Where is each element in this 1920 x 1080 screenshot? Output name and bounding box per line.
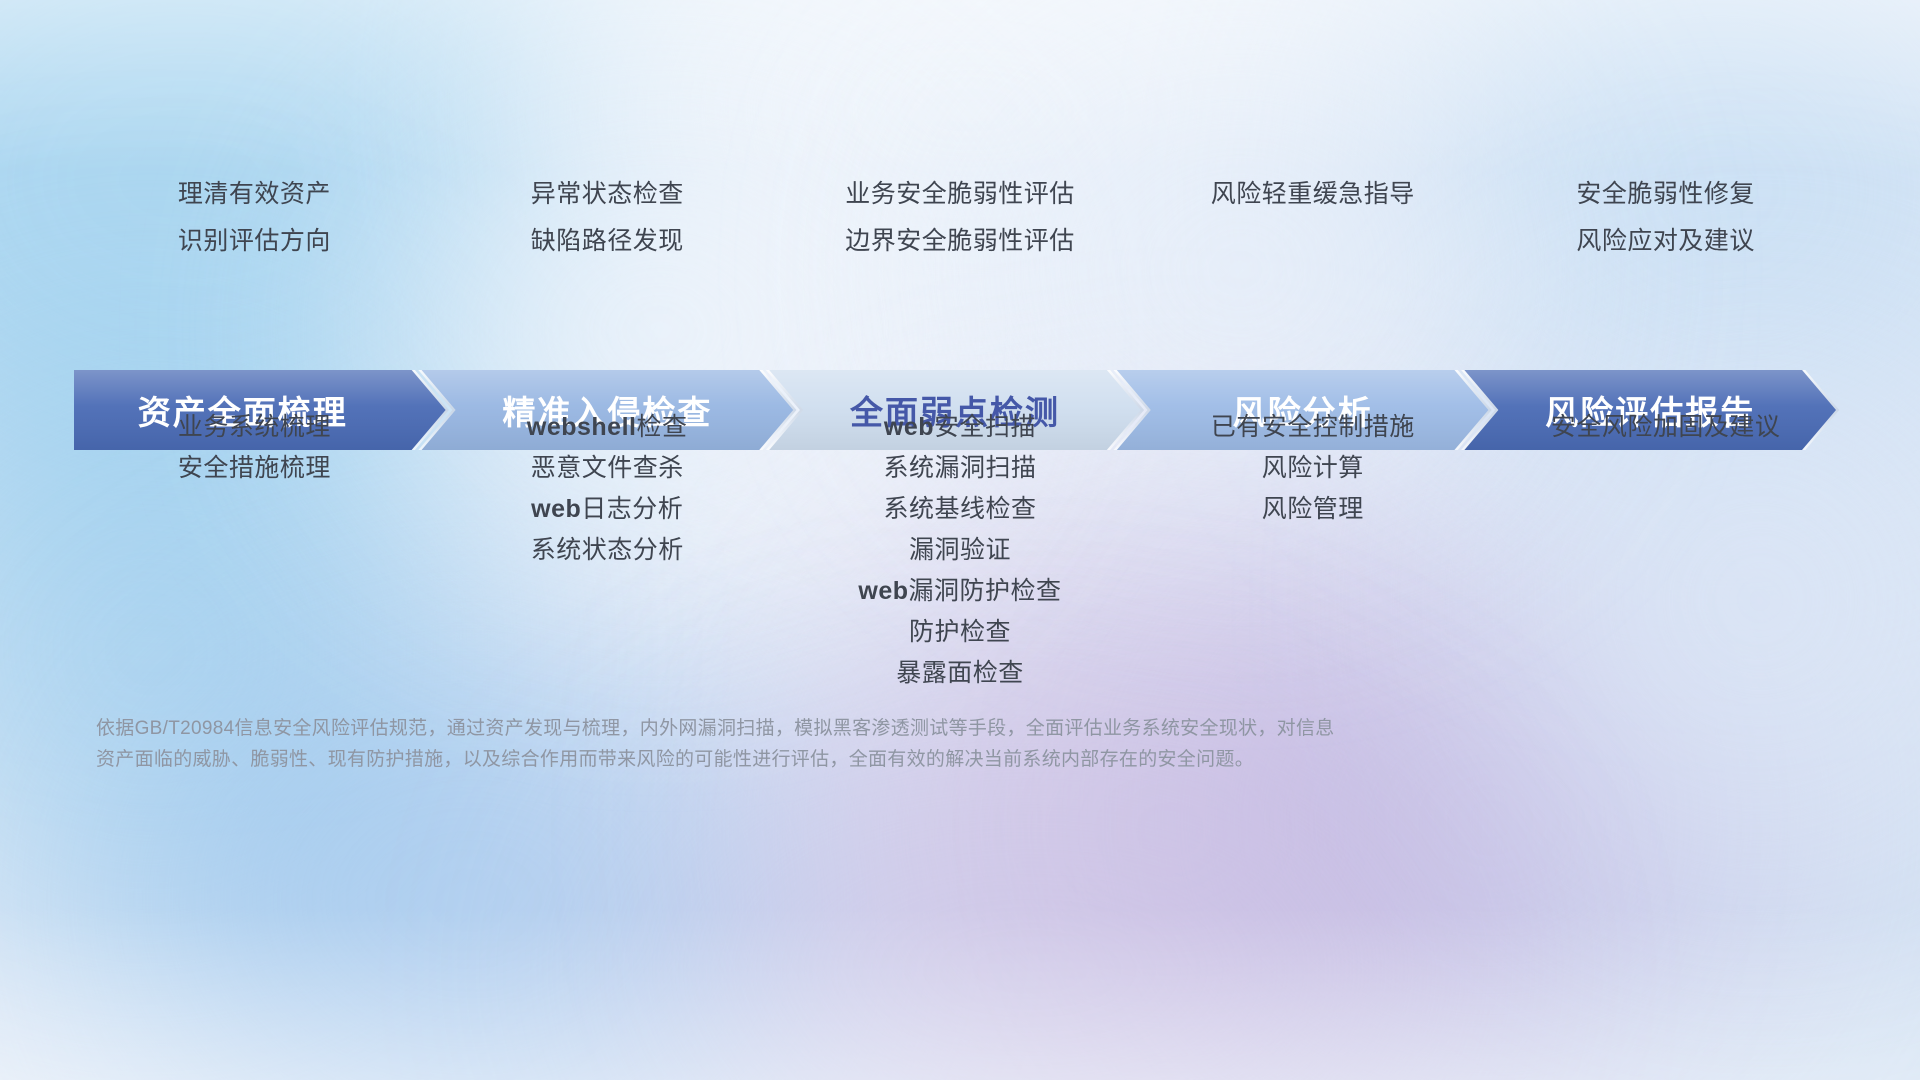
bottom-caption-line: web日志分析 [531, 497, 683, 522]
top-caption-col-weakness-detection: 业务安全脆弱性评估边界安全脆弱性评估 [784, 182, 1137, 276]
bottom-caption-col-risk-report: 安全风险加固及建议 [1489, 415, 1842, 702]
bottom-caption-line: 安全风险加固及建议 [1551, 415, 1781, 440]
bottom-caption-text: 检查 [636, 413, 687, 441]
bottom-caption-line: 已有安全控制措施 [1211, 415, 1415, 440]
top-caption-line: 识别评估方向 [178, 229, 331, 254]
top-caption-line: 边界安全脆弱性评估 [845, 229, 1075, 254]
top-caption-line: 理清有效资产 [178, 182, 331, 207]
bottom-caption-col-intrusion-check: webshell检查恶意文件查杀web日志分析系统状态分析 [431, 415, 784, 702]
process-diagram: 理清有效资产识别评估方向异常状态检查缺陷路径发现业务安全脆弱性评估边界安全脆弱性… [0, 0, 1920, 1080]
top-caption-col-asset-inventory: 理清有效资产识别评估方向 [78, 182, 431, 276]
bottom-caption-text: 安全扫描 [934, 413, 1036, 441]
top-caption-line: 业务安全脆弱性评估 [845, 182, 1075, 207]
footer-description: 依据GB/T20984信息安全风险评估规范，通过资产发现与梳理，内外网漏洞扫描，… [96, 713, 1586, 775]
bottom-caption-line: 系统基线检查 [883, 497, 1036, 522]
top-caption-col-intrusion-check: 异常状态检查缺陷路径发现 [431, 182, 784, 276]
top-caption-line: 异常状态检查 [531, 182, 684, 207]
bottom-caption-keyword: web [884, 413, 934, 441]
bottom-caption-col-asset-inventory: 业务系统梳理安全措施梳理 [78, 415, 431, 702]
top-caption-line: 风险轻重缓急指导 [1211, 182, 1415, 207]
bottom-caption-col-weakness-detection: web安全扫描系统漏洞扫描系统基线检查漏洞验证web漏洞防护检查防护检查暴露面检… [784, 415, 1137, 702]
bottom-caption-line: 安全措施梳理 [178, 456, 331, 481]
bottom-caption-row: 业务系统梳理安全措施梳理webshell检查恶意文件查杀web日志分析系统状态分… [78, 415, 1842, 702]
top-caption-col-risk-analysis: 风险轻重缓急指导 [1136, 182, 1489, 276]
bottom-caption-line: 防护检查 [909, 620, 1011, 645]
bottom-caption-line: 业务系统梳理 [178, 415, 331, 440]
top-caption-row: 理清有效资产识别评估方向异常状态检查缺陷路径发现业务安全脆弱性评估边界安全脆弱性… [78, 182, 1842, 276]
top-caption-line: 缺陷路径发现 [531, 229, 684, 254]
bottom-caption-line: web安全扫描 [884, 415, 1036, 440]
bottom-caption-keyword: web [858, 577, 908, 605]
bottom-caption-keyword: webshell [527, 413, 637, 441]
bottom-caption-line: 系统状态分析 [531, 538, 684, 563]
bottom-caption-line: 风险计算 [1262, 456, 1364, 481]
bottom-caption-line: 漏洞验证 [909, 538, 1011, 563]
footer-line-1: 依据GB/T20984信息安全风险评估规范，通过资产发现与梳理，内外网漏洞扫描，… [96, 713, 1586, 744]
bottom-caption-text: 漏洞防护检查 [909, 577, 1062, 605]
bottom-caption-line: 风险管理 [1262, 497, 1364, 522]
bottom-caption-keyword: web [531, 495, 581, 523]
bottom-caption-line: 恶意文件查杀 [531, 456, 684, 481]
bottom-caption-line: 暴露面检查 [896, 661, 1024, 686]
bottom-caption-col-risk-analysis: 已有安全控制措施风险计算风险管理 [1136, 415, 1489, 702]
top-caption-line: 风险应对及建议 [1576, 229, 1755, 254]
footer-line-2: 资产面临的威胁、脆弱性、现有防护措施，以及综合作用而带来风险的可能性进行评估，全… [96, 744, 1586, 775]
bottom-caption-text: 日志分析 [581, 495, 683, 523]
top-caption-col-risk-report: 安全脆弱性修复风险应对及建议 [1489, 182, 1842, 276]
top-caption-line: 安全脆弱性修复 [1576, 182, 1755, 207]
bottom-caption-line: webshell检查 [527, 415, 688, 440]
bottom-caption-line: web漏洞防护检查 [858, 579, 1061, 604]
bottom-caption-line: 系统漏洞扫描 [883, 456, 1036, 481]
